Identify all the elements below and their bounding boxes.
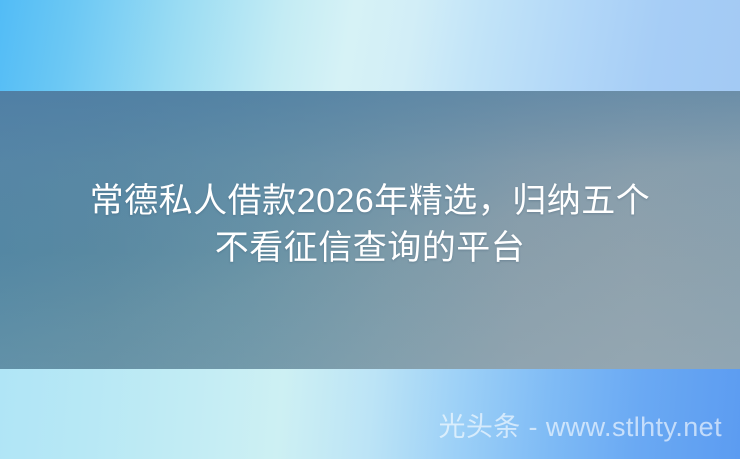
headline-line-2: 不看征信查询的平台 [0, 225, 740, 272]
poster-canvas: 常德私人借款2026年精选，归纳五个 不看征信查询的平台 光头条 - www.s… [0, 0, 740, 459]
site-watermark: 光头条 - www.stlhty.net [438, 410, 722, 444]
top-sky-gradient-band [0, 0, 740, 91]
headline-line-1: 常德私人借款2026年精选，归纳五个 [0, 178, 740, 225]
page-title: 常德私人借款2026年精选，归纳五个 不看征信查询的平台 [0, 178, 740, 272]
